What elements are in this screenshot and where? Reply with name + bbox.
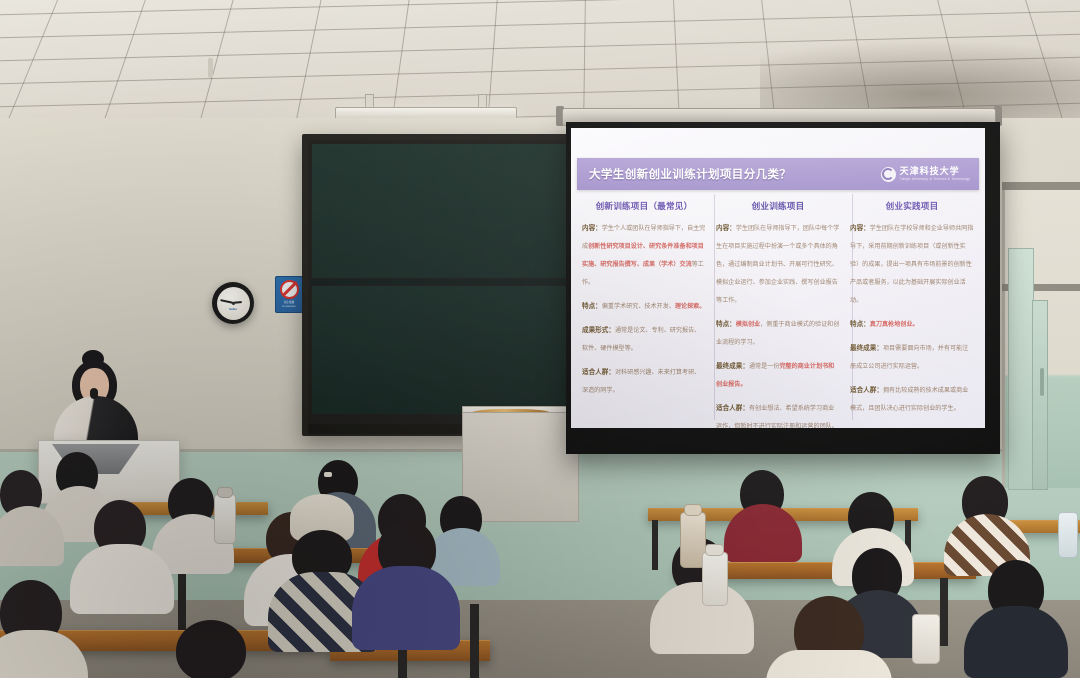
clock-brand-label: Seiko <box>229 307 237 311</box>
desk-leg <box>652 520 658 570</box>
no-smoking-sign: 禁止吸烟 NO SMOKING <box>275 276 303 313</box>
slide-text-block: 内容：学生团队在导师指导下，团队中每个学生在项目实施过程中扮演一个或多个具体的角… <box>716 217 840 307</box>
water-bottle-clear <box>1058 512 1078 558</box>
slide-body-text: 偏重学术研究、技术开发、 <box>602 303 675 310</box>
slide-body-text: 学生团队在导师指导下，团队中每个学生在项目实施过程中扮演一个或多个具体的角色，通… <box>716 225 839 304</box>
blackboard-rail <box>310 279 584 285</box>
projected-slide-area: 大学生创新创业训练计划项目分几类？ 天津科技大学 Tianjin Univers… <box>571 128 985 428</box>
blackboard-lower-panel <box>312 286 582 414</box>
water-bottle <box>214 494 236 544</box>
university-logo: 天津科技大学 Tianjin University of Science & T… <box>881 167 970 182</box>
door-lintel <box>1002 182 1080 190</box>
slide-body-text: 学生团队在学校导师和企业导师共同指导下，采用前期创新训练项目（或创新性实验）的成… <box>850 225 973 304</box>
display-board <box>462 412 579 522</box>
slide-title: 大学生创新创业训练计划项目分几类？ <box>589 166 791 182</box>
slide-emphasis-text: 模拟创业 <box>736 321 760 328</box>
slide-block-label: 适合人群： <box>850 387 883 394</box>
slide-text-block: 内容：学生团队在学校导师和企业导师共同指导下，采用前期创新训练项目（或创新性实验… <box>850 217 974 307</box>
student-head <box>176 620 246 678</box>
slide-columns: 创新训练项目（最常见）内容：学生个人或团队在导师指导下，自主完成创新性研究项目设… <box>579 200 977 428</box>
slide-column-header: 创业训练项目 <box>716 200 840 212</box>
university-name-cn: 天津科技大学 <box>900 167 970 176</box>
university-name-en: Tianjin University of Science & Technolo… <box>900 178 970 181</box>
slide-block-label: 内容： <box>850 225 870 232</box>
slide-text-block: 特点：模拟创业，侧重于商业模式的验证和创业流程的学习。 <box>716 313 840 349</box>
slide-text-block: 适合人群：拥有比较成熟的技术成果或商业模式，且团队决心进行实际创业的学生。 <box>850 379 974 415</box>
ceiling-hook <box>208 58 213 78</box>
university-logo-mark <box>881 167 896 182</box>
water-bottle <box>912 614 940 664</box>
desk-leg <box>470 604 479 678</box>
slide-block-label: 最终成果： <box>716 363 749 370</box>
slide-block-label: 内容： <box>582 225 602 232</box>
slide-column-header: 创新训练项目（最常见） <box>582 200 706 212</box>
thermos-cap <box>684 504 702 516</box>
blackboard <box>302 134 592 436</box>
door-handle[interactable] <box>1040 368 1044 396</box>
no-smoking-line1: 禁止吸烟 <box>284 301 294 304</box>
slide-block-label: 内容： <box>716 225 736 232</box>
slide-text-block: 成果形式：通常是论文、专利、研究报告、软件、硬件模型等。 <box>582 319 706 355</box>
slide-text-block: 最终成果：通常是一份完整的商业计划书和创业报告。 <box>716 355 840 391</box>
slide-text-block: 特点：偏重学术研究、技术开发、理论探索。 <box>582 295 706 313</box>
no-smoking-icon <box>280 280 299 299</box>
slide-text-block: 适合人群：对科研感兴趣、未来打算考研、深造的同学。 <box>582 361 706 397</box>
slide-body-text: 通常是一份 <box>749 363 779 370</box>
classroom-scene: Seiko 禁止吸烟 NO SMOKING 大学生创新创业训练计划项目分几类？ <box>0 0 1080 678</box>
student-body <box>766 650 892 678</box>
hair-clip <box>324 472 332 477</box>
water-bottle <box>702 552 728 606</box>
slide-block-label: 特点： <box>716 321 736 328</box>
clock-center-pin <box>232 302 235 305</box>
slide-emphasis-text: 真刀真枪地创业。 <box>870 321 919 328</box>
slide-emphasis-text: 创新性研究项目设计、研究条件准备和项目实施、研究报告撰写、成果（学术）交流 <box>582 243 704 268</box>
slide-text-block: 内容：学生个人或团队在导师指导下，自主完成创新性研究项目设计、研究条件准备和项目… <box>582 217 706 289</box>
no-smoking-line2: NO SMOKING <box>282 306 296 309</box>
slide-column-entrepreneurship-practice: 创业实践项目内容：学生团队在学校导师和企业导师共同指导下，采用前期创新训练项目（… <box>847 200 977 428</box>
desk-leg <box>940 578 948 646</box>
slide-block-label: 特点： <box>850 321 870 328</box>
bottle-cap <box>705 544 724 556</box>
student-body <box>964 606 1068 678</box>
slide-block-label: 成果形式： <box>582 327 615 334</box>
slide-column-header: 创业实践项目 <box>850 200 974 212</box>
slide-block-label: 适合人群： <box>582 369 615 376</box>
microphone-head <box>90 388 98 399</box>
slide-block-label: 适合人群： <box>716 405 749 412</box>
slide-title-bar: 大学生创新创业训练计划项目分几类？ 天津科技大学 Tianjin Univers… <box>577 158 979 190</box>
student-body <box>352 566 460 650</box>
blackboard-upper-panel <box>312 144 582 278</box>
bottle-cap <box>217 487 233 498</box>
door-leaf[interactable] <box>1008 248 1034 490</box>
presentation-slide: 大学生创新创业训练计划项目分几类？ 天津科技大学 Tianjin Univers… <box>571 128 985 428</box>
slide-column-entrepreneurship-training: 创业训练项目内容：学生团队在导师指导下，团队中每个学生在项目实施过程中扮演一个或… <box>713 200 843 428</box>
slide-text-block: 特点：真刀真枪地创业。 <box>850 313 974 331</box>
slide-text-block: 适合人群：有创业想法、希望系统学习商业运作，但暂时不进行实际注册和运营的团队。 <box>716 397 840 428</box>
slide-block-label: 特点： <box>582 303 602 310</box>
wall-clock: Seiko <box>212 282 254 324</box>
slide-emphasis-text: 理论探索。 <box>675 303 705 310</box>
projection-screen: 大学生创新创业训练计划项目分几类？ 天津科技大学 Tianjin Univers… <box>566 122 1000 454</box>
slide-block-label: 最终成果： <box>850 345 883 352</box>
slide-text-block: 最终成果：项目需要面向市场，并有可能注册成立公司进行实际运营。 <box>850 337 974 373</box>
student-body <box>70 544 174 614</box>
slide-column-innovation-training: 创新训练项目（最常见）内容：学生个人或团队在导师指导下，自主完成创新性研究项目设… <box>579 200 709 428</box>
ceiling <box>0 0 1080 122</box>
